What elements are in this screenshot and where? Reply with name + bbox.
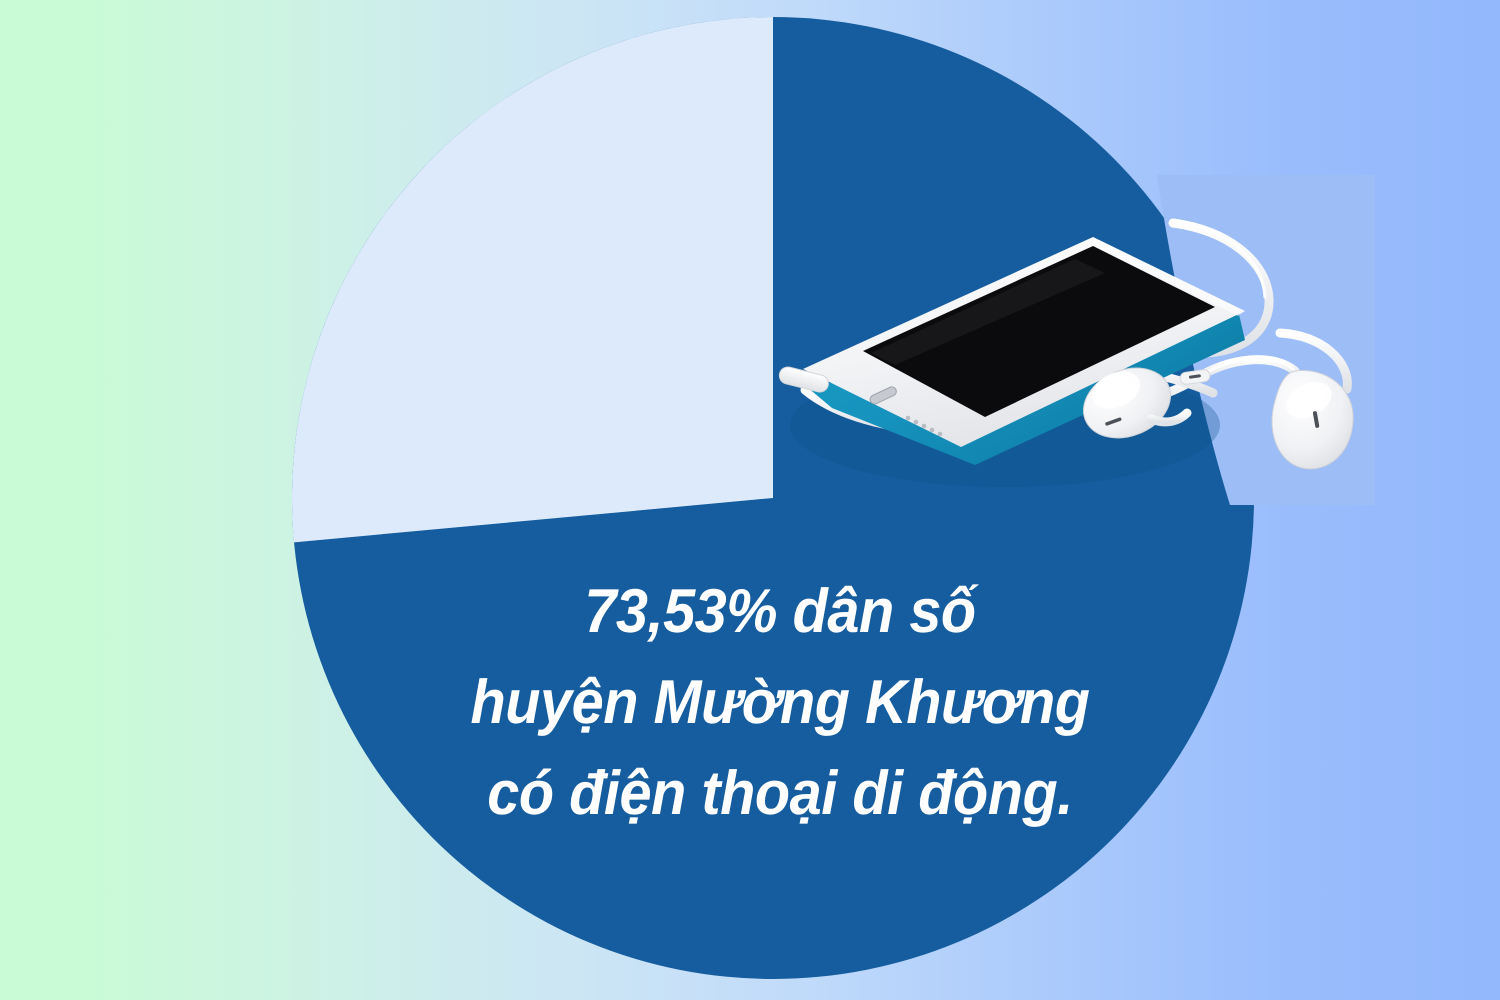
callout-line-3: có điện thoại di động. bbox=[464, 748, 1096, 839]
smartphone-earphones-photo bbox=[775, 175, 1375, 505]
callout-text: 73,53% dân số huyện Mường Khương có điện… bbox=[440, 566, 1120, 839]
callout-line-1: 73,53% dân số bbox=[464, 566, 1096, 657]
pie-slice-no-mobile-phone bbox=[292, 17, 773, 542]
infographic-canvas: 73,53% dân số huyện Mường Khương có điện… bbox=[0, 0, 1500, 1000]
callout-line-2: huyện Mường Khương bbox=[464, 657, 1096, 748]
